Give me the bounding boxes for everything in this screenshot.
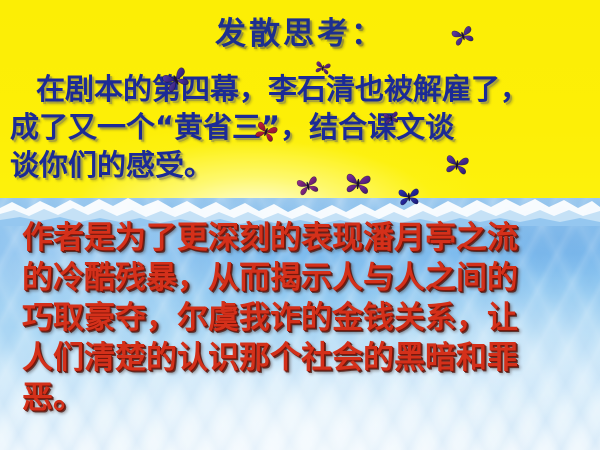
top-text-line-2: 成了又一个“黄省三”，结合课文谈: [10, 108, 595, 146]
bottom-text-line-5: 恶。: [22, 378, 592, 418]
bottom-text-line-1: 作者是为了更深刻的表现潘月亭之流: [22, 218, 592, 258]
bottom-text-line-4: 人们清楚的认识那个社会的黑暗和罪: [22, 338, 592, 378]
bottom-text-line-3: 巧取豪夺，尔虞我诈的金钱关系，让: [22, 298, 592, 338]
slide-title: 发散思考：: [0, 8, 600, 53]
bottom-text-line-2: 的冷酷残暴，从而揭示人与人之间的: [22, 258, 592, 298]
presentation-slide: 发散思考： 在剧本的第四幕，李石清也被解雇了， 成了又一个“黄省三”，结合课文谈…: [0, 0, 600, 450]
top-text-block: 在剧本的第四幕，李石清也被解雇了， 成了又一个“黄省三”，结合课文谈 谈你们的感…: [10, 70, 595, 184]
top-text-line-3: 谈你们的感受。: [10, 146, 595, 184]
bottom-text-block: 作者是为了更深刻的表现潘月亭之流 的冷酷残暴，从而揭示人与人之间的 巧取豪夺，尔…: [22, 218, 592, 418]
top-text-line-1: 在剧本的第四幕，李石清也被解雇了，: [10, 70, 595, 108]
